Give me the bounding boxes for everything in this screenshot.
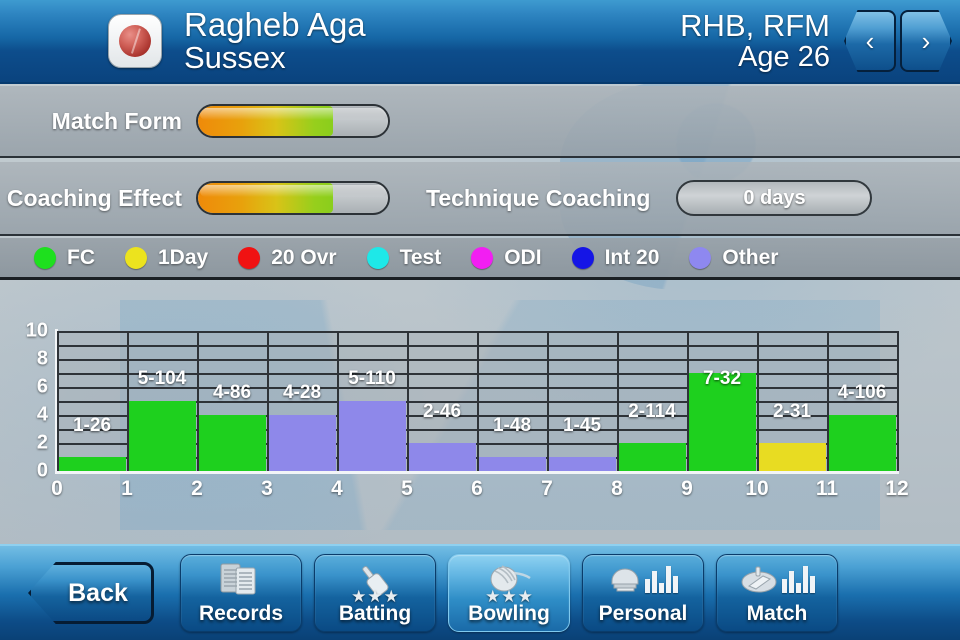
mini-bar-chart-icon xyxy=(645,565,678,593)
legend-item-20-ovr: 20 Ovr xyxy=(238,246,336,270)
plot-area: 1-265-1044-864-285-1102-461-481-452-1147… xyxy=(57,331,897,471)
legend-item-other: Other xyxy=(689,246,778,270)
chart-bar[interactable] xyxy=(269,415,336,471)
player-identity: Ragheb Aga Sussex xyxy=(184,8,366,73)
x-axis xyxy=(55,471,899,474)
star-icon: ★ xyxy=(518,587,533,607)
coaching-effect-meter xyxy=(196,181,390,215)
vertical-gridline xyxy=(57,331,59,471)
star-icon: ★ xyxy=(501,587,516,607)
y-axis-ticks: 0246810 xyxy=(0,281,48,540)
chart-bar[interactable] xyxy=(829,415,896,471)
vertical-gridline xyxy=(897,331,899,471)
match-form-meter xyxy=(196,104,390,138)
legend-label: FC xyxy=(67,246,95,270)
bar-value-label: 2-46 xyxy=(423,401,461,423)
player-age: Age 26 xyxy=(680,42,830,72)
star-icon: ★ xyxy=(384,587,399,607)
bar-value-label: 7-32 xyxy=(703,368,741,390)
prev-player-button[interactable]: ‹ xyxy=(844,10,896,72)
legend-item-test: Test xyxy=(367,246,442,270)
x-tick-label: 9 xyxy=(681,477,693,501)
bar-value-label: 4-106 xyxy=(838,382,887,404)
tab-records[interactable]: Records xyxy=(180,554,302,632)
star-icon: ★ xyxy=(351,587,366,607)
technique-coaching-value[interactable]: 0 days xyxy=(676,180,872,216)
bar-value-label: 2-31 xyxy=(773,401,811,423)
meter-gloss xyxy=(200,185,386,197)
y-tick-label: 10 xyxy=(26,320,48,343)
technique-coaching-label: Technique Coaching xyxy=(426,185,650,212)
x-tick-label: 5 xyxy=(401,477,413,501)
legend-label: Int 20 xyxy=(605,246,660,270)
x-tick-label: 8 xyxy=(611,477,623,501)
star-icon: ★ xyxy=(485,587,500,607)
player-team: Sussex xyxy=(184,42,366,74)
cricket-ball-icon xyxy=(108,14,162,68)
legend-label: 1Day xyxy=(158,246,208,270)
x-tick-label: 7 xyxy=(541,477,553,501)
app-root: Ragheb Aga Sussex RHB, RFM Age 26 ‹ › Ma… xyxy=(0,0,960,640)
legend-item-fc: FC xyxy=(34,246,95,270)
tab-match[interactable]: Match xyxy=(716,554,838,632)
meter-gloss xyxy=(200,108,386,120)
y-tick-label: 8 xyxy=(37,348,48,371)
legend-label: Other xyxy=(722,246,778,270)
legend-dot-icon xyxy=(471,247,493,269)
bar-value-label: 4-28 xyxy=(283,382,321,404)
legend-label: ODI xyxy=(504,246,541,270)
match-form-row: Match Form xyxy=(0,86,960,158)
x-tick-label: 12 xyxy=(885,477,908,501)
star-rating: ★★★ xyxy=(351,587,399,607)
chart-bar[interactable] xyxy=(619,443,686,471)
match-form-label: Match Form xyxy=(0,108,196,135)
back-button[interactable]: Back xyxy=(28,562,154,624)
legend-item-int-20: Int 20 xyxy=(572,246,660,270)
x-tick-label: 6 xyxy=(471,477,483,501)
x-tick-label: 2 xyxy=(191,477,203,501)
helmet-icon xyxy=(608,555,678,602)
chart-bar[interactable] xyxy=(549,457,616,471)
tab-bar: Records★★★Batting★★★BowlingPersonalMatch xyxy=(180,554,838,632)
legend-dot-icon xyxy=(572,247,594,269)
chart-legend: FC1Day20 OvrTestODIInt 20Other xyxy=(0,238,960,280)
legend-dot-icon xyxy=(689,247,711,269)
pitch-icon xyxy=(739,555,815,602)
bar-value-label: 4-86 xyxy=(213,382,251,404)
star-rating: ★★★ xyxy=(485,587,533,607)
bar-value-label: 1-48 xyxy=(493,415,531,437)
vertical-gridline xyxy=(477,331,479,471)
player-pager: ‹ › xyxy=(844,10,952,72)
vertical-gridline xyxy=(547,331,549,471)
x-tick-label: 3 xyxy=(261,477,273,501)
ball-glyph xyxy=(119,25,151,57)
legend-dot-icon xyxy=(125,247,147,269)
legend-label: 20 Ovr xyxy=(271,246,336,270)
bar-value-label: 2-114 xyxy=(628,401,676,423)
legend-label: Test xyxy=(400,246,442,270)
y-tick-label: 2 xyxy=(37,432,48,455)
chart-bar[interactable] xyxy=(129,401,196,471)
x-tick-label: 11 xyxy=(816,477,838,501)
chart-bar[interactable] xyxy=(409,443,476,471)
bottom-nav: Back Records★★★Batting★★★BowlingPersonal… xyxy=(0,544,960,640)
records-icon xyxy=(218,555,264,602)
y-tick-label: 6 xyxy=(37,376,48,399)
chart-bar[interactable] xyxy=(479,457,546,471)
legend-item-odi: ODI xyxy=(471,246,541,270)
chart-bar[interactable] xyxy=(759,443,826,471)
coaching-effect-label: Coaching Effect xyxy=(0,185,196,212)
tab-label: Records xyxy=(199,602,283,626)
legend-dot-icon xyxy=(34,247,56,269)
bar-value-label: 5-110 xyxy=(348,368,396,390)
bar-value-label: 5-104 xyxy=(138,368,187,390)
x-tick-label: 4 xyxy=(331,477,343,501)
tab-personal[interactable]: Personal xyxy=(582,554,704,632)
page-title: Ragheb Aga xyxy=(184,8,366,42)
tab-batting[interactable]: ★★★Batting xyxy=(314,554,436,632)
bar-value-label: 1-45 xyxy=(563,415,601,437)
legend-item-1day: 1Day xyxy=(125,246,208,270)
mini-bar-chart-icon xyxy=(782,565,815,593)
bar-value-label: 1-26 xyxy=(73,415,111,437)
legend-dot-icon xyxy=(367,247,389,269)
next-player-button[interactable]: › xyxy=(900,10,952,72)
y-tick-label: 4 xyxy=(37,404,48,427)
x-tick-label: 1 xyxy=(121,477,133,501)
chart-bar[interactable] xyxy=(59,457,126,471)
player-attributes: RHB, RFM Age 26 xyxy=(680,10,830,72)
chart-bar[interactable] xyxy=(339,401,406,471)
coaching-row: Coaching Effect Technique Coaching 0 day… xyxy=(0,162,960,236)
x-tick-label: 0 xyxy=(51,477,63,501)
chart-bar[interactable] xyxy=(199,415,266,471)
x-tick-label: 10 xyxy=(745,477,768,501)
player-header: Ragheb Aga Sussex RHB, RFM Age 26 ‹ › xyxy=(0,0,960,84)
legend-dot-icon xyxy=(238,247,260,269)
player-style: RHB, RFM xyxy=(680,10,830,42)
star-icon: ★ xyxy=(367,587,382,607)
tab-label: Personal xyxy=(599,602,688,626)
tab-bowling[interactable]: ★★★Bowling xyxy=(448,554,570,632)
bowling-figures-chart: 0246810 1-265-1044-864-285-1102-461-481-… xyxy=(0,281,960,540)
tab-label: Match xyxy=(747,602,808,626)
y-tick-label: 0 xyxy=(37,460,48,483)
